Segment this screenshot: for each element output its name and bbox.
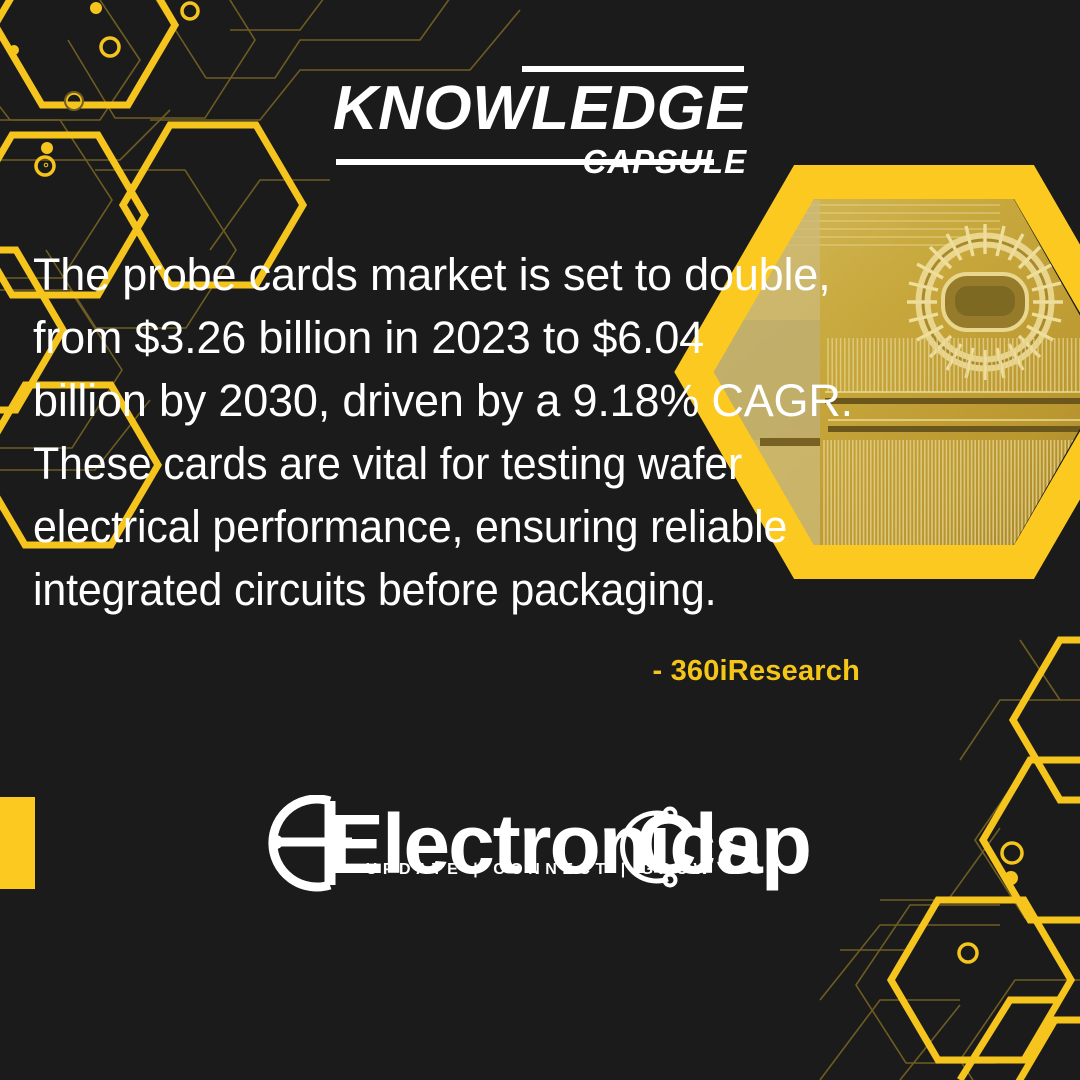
logo-top-rule (522, 66, 744, 72)
logo-capsule-text: CAPSULE (569, 145, 748, 178)
knowledge-capsule-logo: KNOWLEDGE CAPSULE (0, 52, 1080, 178)
quote-line-2: from $3.26 billion in 2023 to $6.04 (33, 306, 878, 369)
brand-tagline: UPDATE | CONNECT | GROW (366, 861, 714, 879)
quote-line-5: electrical performance, ensuring reliabl… (33, 495, 840, 558)
electronics-clap-logo: Electronics Clap UPDATE | CONNECT | GROW (0, 795, 1080, 898)
poster-canvas: KNOWLEDGE CAPSULE The probe cards market… (0, 0, 1080, 1080)
quote-line-3: billion by 2030, driven by a 9.18% CAGR. (33, 369, 878, 432)
quote-attribution: - 360iResearch (0, 655, 860, 688)
quote-line-4: These cards are vital for testing wafer (33, 432, 840, 495)
quote-line-6: integrated circuits before packaging. (33, 558, 840, 621)
quote-line-1: The probe cards market is set to double, (33, 243, 878, 306)
quote-text: The probe cards market is set to double,… (33, 243, 878, 621)
